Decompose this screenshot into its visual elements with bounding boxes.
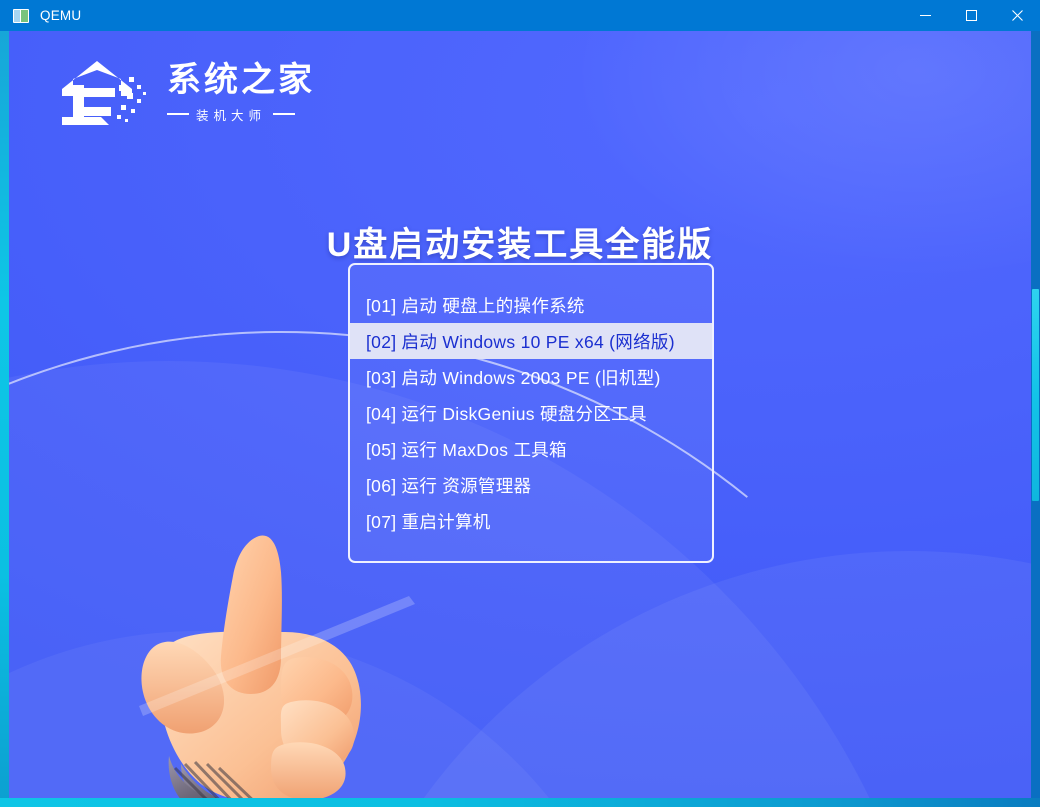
window-title: QEMU xyxy=(40,8,81,23)
boot-menu: [01] 启动 硬盘上的操作系统 [02] 启动 Windows 10 PE x… xyxy=(348,263,714,563)
window-controls xyxy=(902,0,1040,31)
boot-menu-item-03[interactable]: [03] 启动 Windows 2003 PE (旧机型) xyxy=(350,359,712,395)
guest-display[interactable]: 系统之家 装机大师 U盘启动安装工具全能版 [01] 启动 硬盘上的操作系统 [… xyxy=(0,31,1040,807)
qemu-window: QEMU xyxy=(0,0,1040,807)
brand-subtitle-row: 装机大师 xyxy=(167,105,315,124)
brand-logo: 系统之家 装机大师 xyxy=(57,55,315,131)
boot-menu-item-05[interactable]: [05] 运行 MaxDos 工具箱 xyxy=(350,431,712,467)
boot-menu-item-04[interactable]: [04] 运行 DiskGenius 硬盘分区工具 xyxy=(350,395,712,431)
page-title: U盘启动安装工具全能版 xyxy=(9,217,1031,266)
display-bottom-edge xyxy=(0,798,1040,807)
house-logo-icon xyxy=(57,55,161,131)
boot-menu-item-02[interactable]: [02] 启动 Windows 10 PE x64 (网络版) xyxy=(350,323,712,359)
minimize-button[interactable] xyxy=(902,0,948,31)
boot-menu-item-07[interactable]: [07] 重启计算机 xyxy=(350,503,712,539)
brand-subtitle: 装机大师 xyxy=(196,105,266,124)
window-titlebar: QEMU xyxy=(0,0,1040,31)
brand-title: 系统之家 xyxy=(167,63,315,97)
boot-menu-screen: 系统之家 装机大师 U盘启动安装工具全能版 [01] 启动 硬盘上的操作系统 [… xyxy=(9,31,1031,798)
qemu-monitor-icon xyxy=(13,9,29,23)
boot-menu-item-01[interactable]: [01] 启动 硬盘上的操作系统 xyxy=(350,287,712,323)
display-left-edge xyxy=(0,31,9,807)
maximize-button[interactable] xyxy=(948,0,994,31)
brand-text: 系统之家 装机大师 xyxy=(167,63,315,124)
subtitle-dash-right xyxy=(273,113,295,115)
boot-menu-item-06[interactable]: [06] 运行 资源管理器 xyxy=(350,467,712,503)
vertical-scrollbar-thumb[interactable] xyxy=(1032,289,1039,501)
close-button[interactable] xyxy=(994,0,1040,31)
subtitle-dash-left xyxy=(167,113,189,115)
